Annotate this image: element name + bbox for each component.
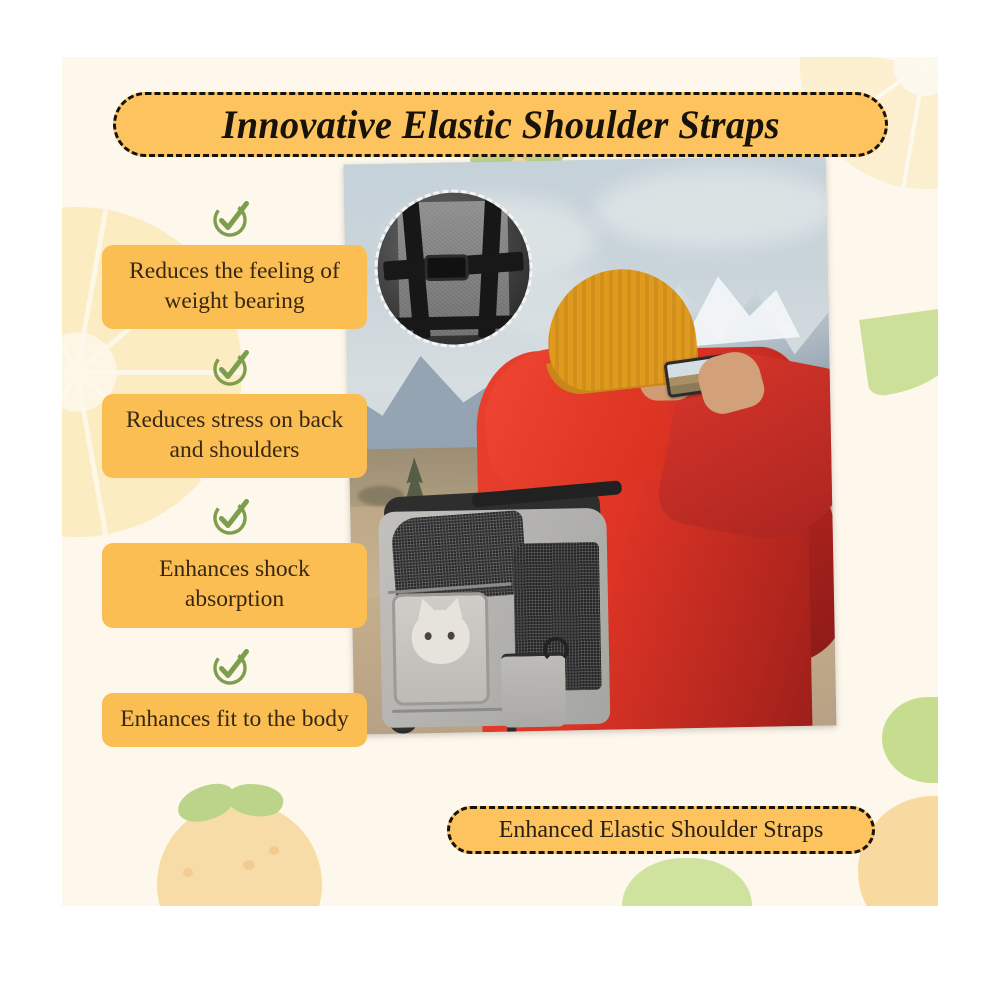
leaf-right-lower-decoration [882, 697, 938, 783]
feature-label: Enhances shock absorption [159, 556, 310, 612]
product-photo [344, 155, 837, 734]
carrier-window [392, 592, 490, 706]
feature-text-box: Enhances fit to the body [102, 693, 367, 748]
check-circle-icon [75, 197, 385, 243]
photo-caption-banner: Enhanced Elastic Shoulder Straps [447, 806, 875, 854]
check-circle-icon [75, 645, 385, 691]
check-circle-icon [75, 346, 385, 392]
carrier-front-pocket [501, 653, 566, 728]
feature-item: Enhances shock absorption [75, 495, 385, 627]
title-banner: Innovative Elastic Shoulder Straps [113, 92, 888, 157]
leaf-right-upper-decoration [859, 305, 938, 398]
leaf-bottom-center-decoration [622, 858, 752, 906]
feature-text-box: Enhances shock absorption [102, 543, 367, 627]
strap-buckle [424, 254, 468, 281]
page-title: Innovative Elastic Shoulder Straps [221, 101, 779, 148]
feature-label: Enhances fit to the body [120, 706, 348, 732]
photo-caption-text: Enhanced Elastic Shoulder Straps [499, 817, 824, 844]
feature-item: Reduces the feeling of weight bearing [75, 197, 385, 329]
feature-label: Reduces the feeling of weight bearing [129, 258, 340, 314]
photo-scene [344, 155, 837, 734]
strap-detail-inset [376, 191, 531, 346]
feature-text-box: Reduces stress on back and shoulders [102, 394, 367, 478]
feature-label: Reduces stress on back and shoulders [126, 407, 343, 463]
feature-item: Enhances fit to the body [75, 645, 385, 748]
feature-list: Reduces the feeling of weight bearing Re… [75, 197, 385, 764]
check-circle-icon [75, 495, 385, 541]
cat-face [411, 609, 470, 664]
orange-fruit-bottom-right-decoration [858, 796, 938, 906]
orange-fruit-bottom-left-decoration [157, 802, 322, 906]
feature-text-box: Reduces the feeling of weight bearing [102, 245, 367, 329]
feature-item: Reduces stress on back and shoulders [75, 346, 385, 478]
